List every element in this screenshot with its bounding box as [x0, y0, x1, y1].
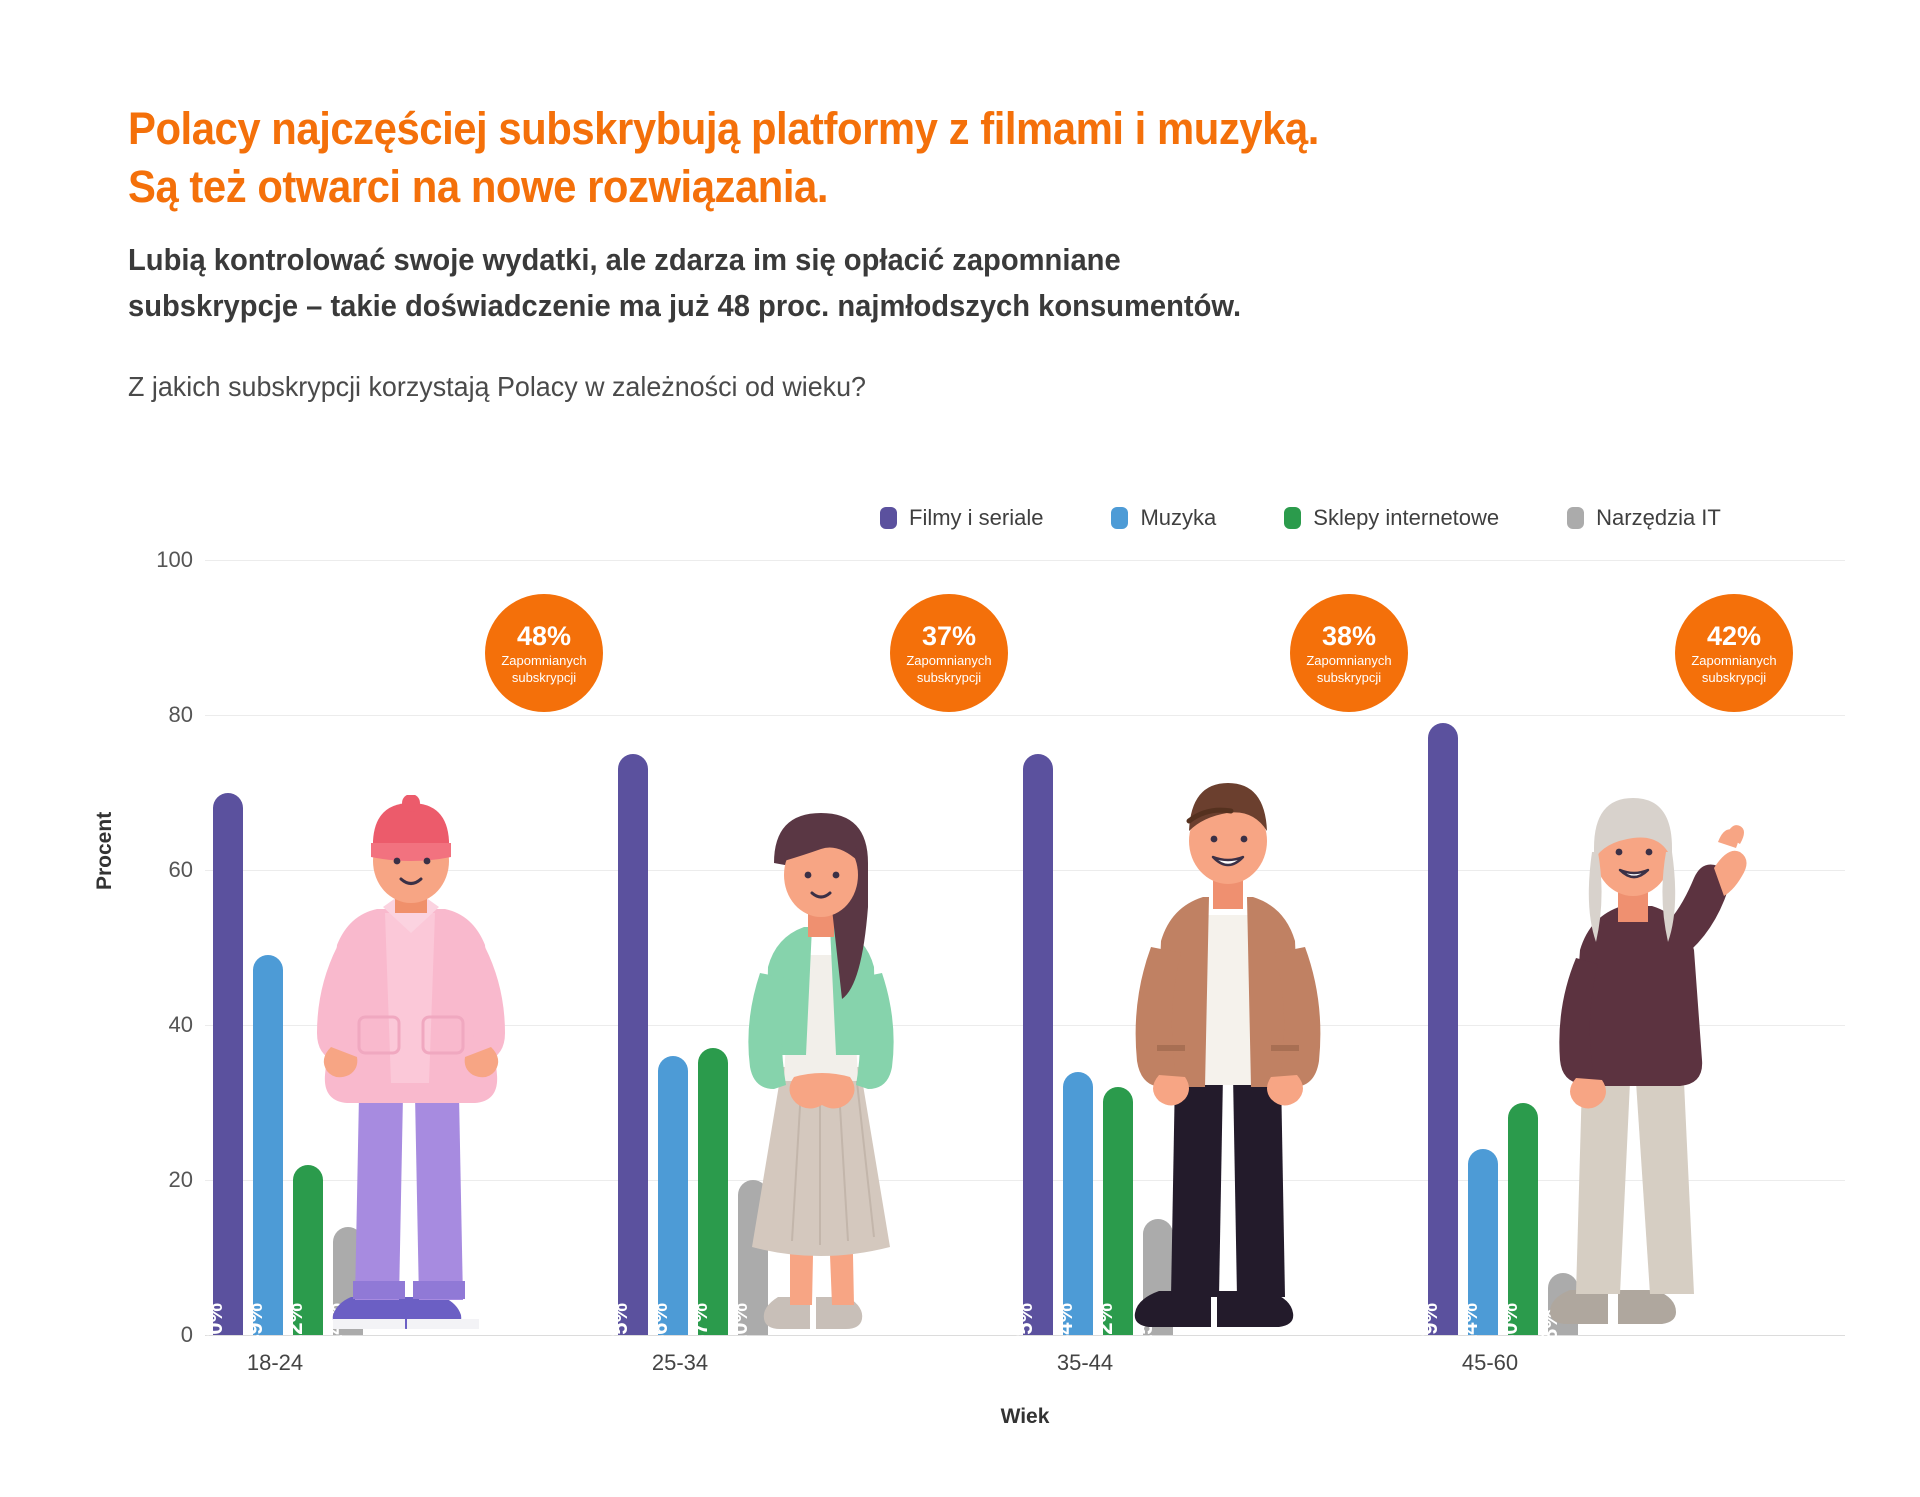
bar-chart: Procent 100 80 60 40 20 0 [205, 560, 1845, 1335]
x-tick-18-24: 18-24 [125, 1350, 425, 1376]
annotation-percent-35-44: 38% [1322, 621, 1376, 651]
bar-value-45-60-music: 24% [1457, 1303, 1483, 1347]
annotation-caption1-18-24: Zapomnianych [501, 651, 586, 668]
y-tick-0: 0 [73, 1322, 193, 1348]
bar-value-45-60-films: 79% [1417, 1303, 1443, 1347]
annotation-caption2-35-44: subskrypcji [1317, 668, 1381, 685]
bar-35-44-films[interactable]: 75% [1023, 754, 1053, 1335]
y-tick-40: 40 [73, 1012, 193, 1038]
legend-swatch-shops-icon [1284, 507, 1301, 529]
annotation-caption1-45-60: Zapomnianych [1691, 651, 1776, 668]
annotation-badge-35-44[interactable]: 38% Zapomnianych subskrypcji [1290, 594, 1408, 712]
headline-line-2: Są też otwarci na nowe rozwiązania. [128, 158, 1709, 216]
annotation-percent-25-34: 37% [922, 621, 976, 651]
annotation-badge-45-60[interactable]: 42% Zapomnianych subskrypcji [1675, 594, 1793, 712]
legend-swatch-it-icon [1567, 507, 1584, 529]
annotation-badge-25-34[interactable]: 37% Zapomnianych subskrypcji [890, 594, 1008, 712]
x-tick-45-60: 45-60 [1340, 1350, 1640, 1376]
illustration-person-25-34 [698, 805, 943, 1335]
annotation-caption2-25-34: subskrypcji [917, 668, 981, 685]
legend-swatch-films-icon [880, 507, 897, 529]
infographic-page: Polacy najczęściej subskrybują platformy… [0, 0, 1920, 1497]
bar-value-25-34-films: 75% [607, 1303, 633, 1347]
header: Polacy najczęściej subskrybują platformy… [128, 100, 1828, 404]
bar-value-18-24-films: 70% [202, 1303, 228, 1347]
annotation-caption2-45-60: subskrypcji [1702, 668, 1766, 685]
legend-label-it: Narzędzia IT [1596, 505, 1721, 531]
bar-value-25-34-music: 36% [647, 1303, 673, 1347]
bar-45-60-films[interactable]: 79% [1428, 723, 1458, 1335]
bar-45-60-music[interactable]: 24% [1468, 1149, 1498, 1335]
annotation-badge-18-24[interactable]: 48% Zapomnianych subskrypcji [485, 594, 603, 712]
x-axis-title: Wiek [205, 1405, 1845, 1429]
headline-line-1: Polacy najczęściej subskrybują platformy… [128, 100, 1709, 158]
x-tick-25-34: 25-34 [530, 1350, 830, 1376]
bar-18-24-music[interactable]: 49% [253, 955, 283, 1335]
illustration-person-35-44 [1103, 775, 1353, 1335]
chart-legend: Filmy i seriale Muzyka Sklepy internetow… [880, 505, 1721, 531]
legend-label-films: Filmy i seriale [909, 505, 1043, 531]
subhead-line-1: Lubią kontrolować swoje wydatki, ale zda… [128, 238, 1726, 282]
annotation-caption2-18-24: subskrypcji [512, 668, 576, 685]
illustration-person-45-60 [1508, 790, 1758, 1335]
bar-35-44-music[interactable]: 34% [1063, 1072, 1093, 1336]
chart-question: Z jakich subskrypcji korzystają Polacy w… [128, 370, 1760, 404]
x-tick-35-44: 35-44 [935, 1350, 1235, 1376]
legend-label-shops: Sklepy internetowe [1313, 505, 1499, 531]
legend-swatch-music-icon [1111, 507, 1128, 529]
bar-25-34-films[interactable]: 75% [618, 754, 648, 1335]
legend-item-it[interactable]: Narzędzia IT [1567, 505, 1721, 531]
subhead-line-2: subskrypcje – takie doświadczenie ma już… [128, 284, 1726, 328]
bar-value-35-44-films: 75% [1012, 1303, 1038, 1347]
y-tick-20: 20 [73, 1167, 193, 1193]
bar-value-18-24-music: 49% [242, 1303, 268, 1347]
legend-label-music: Muzyka [1140, 505, 1216, 531]
legend-item-shops[interactable]: Sklepy internetowe [1284, 505, 1499, 531]
y-tick-80: 80 [73, 702, 193, 728]
bar-18-24-films[interactable]: 70% [213, 793, 243, 1336]
annotation-percent-18-24: 48% [517, 621, 571, 651]
annotation-caption1-25-34: Zapomnianych [906, 651, 991, 668]
legend-item-films[interactable]: Filmy i seriale [880, 505, 1043, 531]
annotation-percent-45-60: 42% [1707, 621, 1761, 651]
annotation-caption1-35-44: Zapomnianych [1306, 651, 1391, 668]
illustration-person-18-24 [293, 795, 528, 1335]
bar-25-34-music[interactable]: 36% [658, 1056, 688, 1335]
y-tick-60: 60 [73, 857, 193, 883]
y-tick-100: 100 [73, 547, 193, 573]
bar-value-35-44-music: 34% [1052, 1303, 1078, 1347]
legend-item-music[interactable]: Muzyka [1111, 505, 1216, 531]
